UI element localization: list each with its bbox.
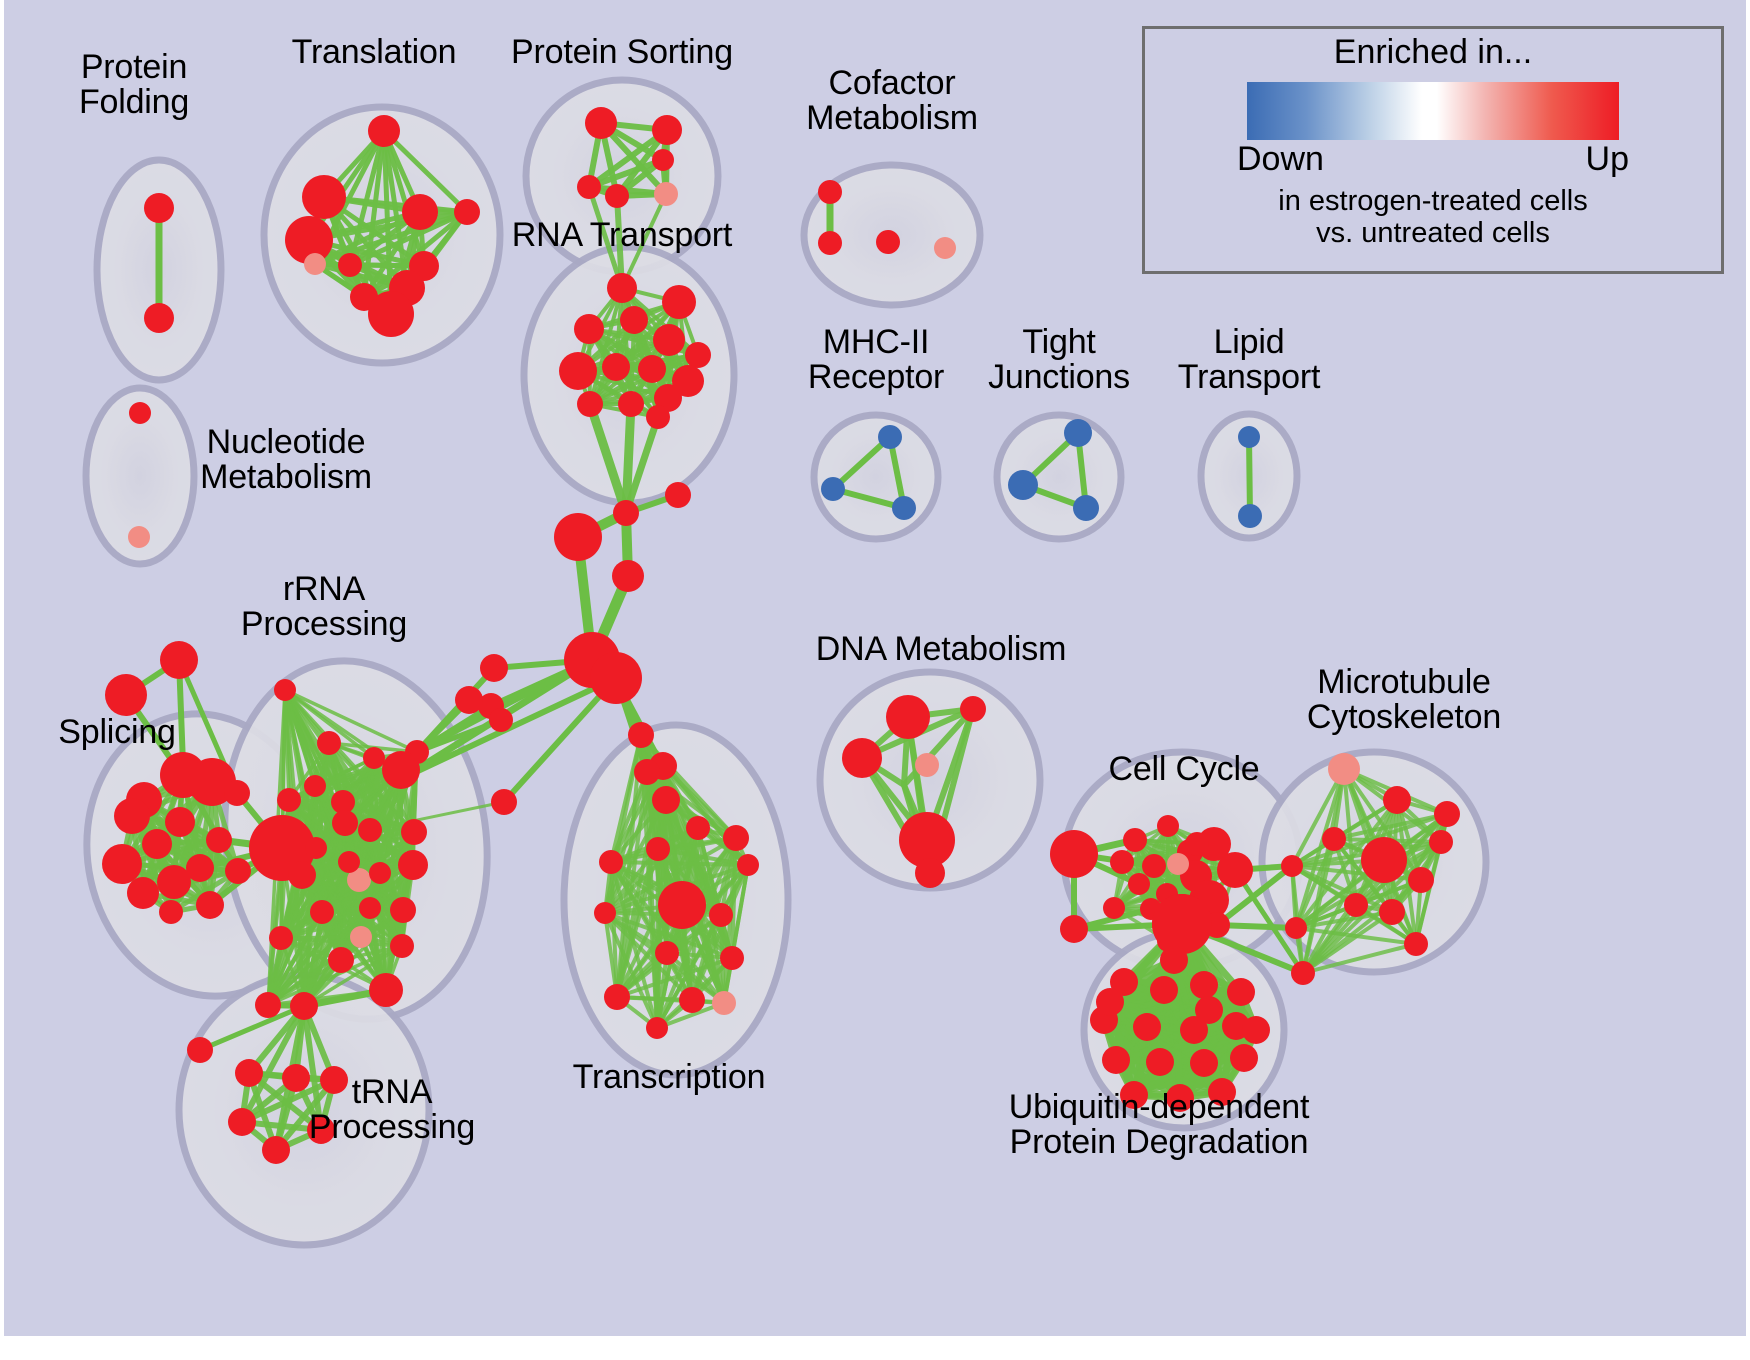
network-node [818,231,842,255]
network-node [206,827,232,853]
network-node [1404,932,1428,956]
network-node [590,652,642,704]
network-node [878,425,902,449]
network-node [577,391,603,417]
network-node [638,355,666,383]
network-node [102,844,142,884]
network-node [225,858,251,884]
network-node [1073,495,1099,521]
network-node [282,1064,310,1092]
network-node [1190,971,1218,999]
network-node [737,854,759,876]
network-node [646,405,670,429]
network-node [129,402,151,424]
network-node [1344,893,1368,917]
network-node [1060,915,1088,943]
network-canvas: Protein Folding Translation Protein Sort… [4,0,1746,1336]
cluster-label-nucleotide-metabolism: Nucleotide Metabolism [200,425,372,496]
network-node [402,194,438,230]
network-node [290,992,318,1020]
network-node [821,477,845,501]
network-node [915,858,945,888]
cluster-label-ubiquitin: Ubiquitin-dependent Protein Degradation [1009,1090,1310,1161]
network-node [1008,470,1038,500]
network-node [305,837,327,859]
network-node [646,1017,668,1039]
network-node [255,992,281,1018]
network-node [1160,946,1188,974]
network-node [876,230,900,254]
network-node [1408,867,1434,893]
legend-caption-line2: vs. untreated cells [1145,217,1721,249]
network-node [165,807,195,837]
network-node [1242,1016,1270,1044]
network-node [317,731,341,755]
network-node [160,641,198,679]
network-node [1110,850,1134,874]
network-node [652,149,674,171]
network-node [1361,837,1407,883]
network-node [723,825,749,851]
network-node [655,941,679,965]
network-node [559,352,597,390]
network-node [842,738,882,778]
network-node [1227,978,1255,1006]
network-node [652,115,682,145]
network-node [196,891,224,919]
network-node [368,115,400,147]
network-node [686,816,710,840]
network-node [574,314,604,344]
network-node [1238,504,1262,528]
cluster-halo [814,415,938,539]
cluster-label-rna-transport: RNA Transport [512,218,732,253]
network-node [480,654,508,682]
network-node [1190,1049,1218,1077]
network-node [1157,815,1179,837]
network-node [554,513,602,561]
legend-down-label: Down [1237,140,1324,179]
legend-panel: Enriched in... Down Up in estrogen-treat… [1142,26,1724,274]
cluster-label-microtubule: Microtubule Cytoskeleton [1307,665,1501,736]
cluster-label-translation: Translation [292,35,457,70]
network-node [369,973,403,1007]
network-node [382,751,420,789]
network-node [653,324,685,356]
legend-caption-line1: in estrogen-treated cells [1145,185,1721,217]
network-node [602,353,630,381]
network-node [304,775,326,797]
cluster-label-dna-metabolism: DNA Metabolism [816,632,1066,667]
network-node [350,926,372,948]
network-node [144,193,174,223]
network-node [127,877,159,909]
network-node [187,1037,213,1063]
legend-title: Enriched in... [1145,33,1721,72]
network-node [594,902,616,924]
network-node [235,1059,263,1087]
network-node [224,780,250,806]
network-node [398,850,428,880]
network-node [358,818,382,842]
network-node [1434,801,1460,827]
network-node [634,759,660,785]
network-node [620,306,648,334]
network-node [1064,419,1092,447]
network-node [712,991,736,1015]
cluster-label-protein-sorting: Protein Sorting [511,35,733,70]
network-node [607,273,637,303]
cluster-label-splicing: Splicing [58,715,175,750]
network-node [1281,855,1303,877]
network-node [960,696,986,722]
cluster-label-protein-folding: Protein Folding [79,50,189,121]
network-node [368,291,414,337]
network-node [709,903,733,927]
network-node [1291,961,1315,985]
network-node [585,107,617,139]
network-node [363,747,385,769]
network-node [304,253,326,275]
legend-up-label: Up [1586,140,1629,179]
network-node [1383,786,1411,814]
network-node [105,674,147,716]
network-node [338,851,360,873]
network-node [599,850,623,874]
network-node [915,753,939,777]
network-node [1328,753,1360,785]
network-node [1133,1013,1161,1041]
network-node [628,722,654,748]
network-node [679,987,705,1013]
network-node [328,947,354,973]
network-node [1429,830,1453,854]
network-node [159,900,183,924]
network-node [288,861,316,889]
legend-color-gradient-bar [1247,82,1619,140]
network-node [662,285,696,319]
network-node [144,303,174,333]
cluster-label-tight-junctions: Tight Junctions [988,325,1130,396]
cluster-label-mhc-ii-receptor: MHC-II Receptor [808,325,944,396]
network-node [1238,426,1260,448]
network-node [1123,828,1147,852]
network-node [310,900,334,924]
network-node [142,829,172,859]
network-node [618,391,644,417]
network-node [1379,899,1405,925]
cluster-label-cell-cycle: Cell Cycle [1108,752,1259,787]
network-node [886,695,930,739]
network-node [277,788,301,812]
network-node [720,946,744,970]
network-node [274,679,296,701]
figure-root: Protein Folding Translation Protein Sort… [0,0,1750,1360]
network-node [654,182,678,206]
network-node [1150,976,1178,1004]
network-node [157,865,191,899]
network-node [1185,832,1209,856]
network-node [390,934,414,958]
cluster-label-rrna-processing: rRNA Processing [241,572,407,643]
network-node [1152,894,1212,954]
network-node [1195,996,1223,1024]
network-node [1217,852,1253,888]
network-node [369,862,391,884]
network-node [1096,988,1124,1016]
cluster-label-trna-processing: tRNA Processing [309,1075,475,1146]
network-node [338,253,362,277]
network-node [658,881,706,929]
network-node [613,500,639,526]
network-node [1050,830,1098,878]
network-node [332,810,358,836]
network-node [1285,917,1307,939]
network-node [652,786,680,814]
network-node [577,175,601,199]
network-node [1230,1044,1258,1072]
network-node [646,837,670,861]
network-node [359,897,381,919]
network-node [1322,827,1346,851]
network-node [1102,1046,1130,1074]
network-node [1146,1048,1174,1076]
network-node [612,560,644,592]
network-node [604,984,630,1010]
network-node [491,789,517,815]
network-node [390,897,416,923]
network-node [228,1108,256,1136]
network-node [454,199,480,225]
network-node [685,342,711,368]
network-node [892,496,916,520]
cluster-label-cofactor-metabolism: Cofactor Metabolism [806,66,978,137]
network-node [489,708,513,732]
network-node [128,526,150,548]
cluster-label-lipid-transport: Lipid Transport [1178,325,1320,396]
network-node [665,482,691,508]
network-node [1167,853,1189,875]
network-node [262,1136,290,1164]
network-node [114,798,150,834]
network-node [1142,854,1166,878]
network-node [1128,873,1150,895]
network-node [818,180,842,204]
network-node [401,819,427,845]
network-node [455,686,483,714]
cluster-label-transcription: Transcription [573,1060,766,1095]
network-node [269,926,293,950]
network-node [605,184,629,208]
network-node [934,237,956,259]
network-node [1103,897,1125,919]
network-node [302,175,346,219]
